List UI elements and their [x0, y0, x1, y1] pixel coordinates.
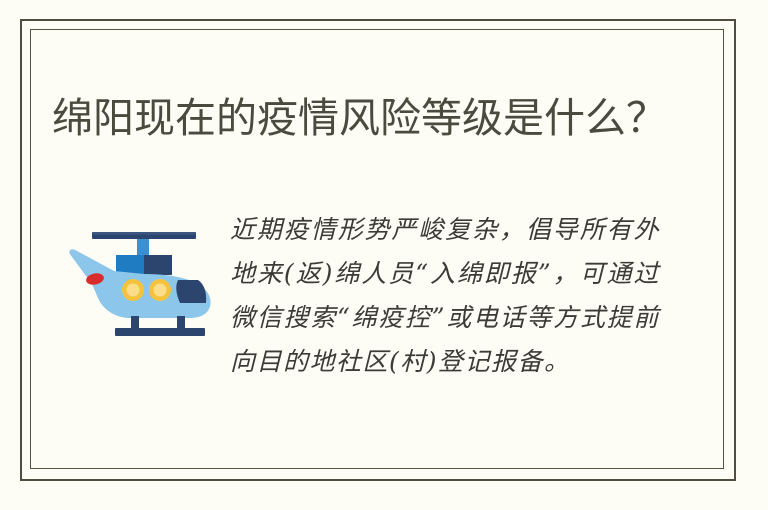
engine-housing-right-icon	[144, 255, 172, 275]
helicopter-illustration	[58, 218, 228, 343]
cockpit-window-icon	[176, 280, 206, 303]
landing-skid-icon	[115, 328, 205, 336]
page-root: 绵阳现在的疫情风险等级是什么？	[0, 0, 768, 510]
article-body: 近期疫情形势严峻复杂，倡导所有外地来(返)绵人员“入绵即报”，可通过微信搜索“绵…	[230, 208, 660, 384]
skid-strut-icon	[177, 316, 185, 330]
content-area: 近期疫情形势严峻复杂，倡导所有外地来(返)绵人员“入绵即报”，可通过微信搜索“绵…	[40, 200, 720, 450]
skid-strut-icon	[131, 316, 139, 330]
page-title: 绵阳现在的疫情风险等级是什么？	[52, 89, 692, 147]
